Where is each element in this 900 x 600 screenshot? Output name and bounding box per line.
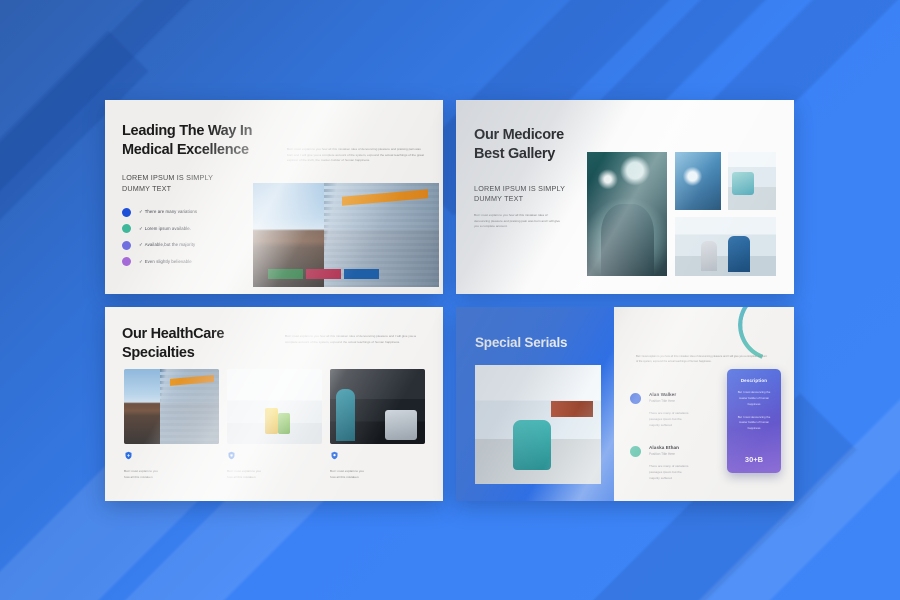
bullet-label: ✓There are many variations (139, 209, 197, 215)
slide1-title-line2: Medical Excellence (122, 142, 249, 158)
photo-signage (268, 269, 380, 278)
person-dot-icon (630, 446, 641, 457)
hospital-building-photo[interactable] (124, 369, 219, 444)
person-role: Position Title Here (649, 399, 688, 403)
slide2-title-line1: Our Medicore (474, 127, 564, 143)
laboratory-photo[interactable] (227, 369, 322, 444)
bullet-label: ✓Even slightly believable (139, 259, 192, 265)
person-entry[interactable]: Alan Walker Position Title Here There ar… (630, 392, 714, 429)
specialty-card[interactable]: But I must explain to youhow all this mi… (124, 369, 219, 481)
slide2-title-line2: Best Gallery (474, 146, 555, 162)
progress-ring-decoration (738, 307, 794, 361)
person-entry[interactable]: Alaska Ethan Position Title Here There a… (630, 445, 714, 482)
bullet-label: ✓Available,but the majority (139, 242, 195, 248)
bullet-dot-icon (122, 241, 131, 250)
slide4-title: Special Serials (475, 335, 567, 350)
shield-icon (330, 451, 339, 460)
specialty-card[interactable]: But I must explain to youhow all this mi… (227, 369, 322, 481)
slide-medicore-gallery[interactable]: Our Medicore Best Gallery LOREM IPSUM IS… (456, 100, 794, 294)
specialty-caption: But I must explain to youhow all this mi… (330, 469, 425, 481)
person-role: Position Title Here (649, 452, 688, 456)
presentation-mockup-background: Leading The Way In Medical Excellence LO… (0, 0, 900, 600)
slide1-subtitle-line2: DUMMY TEXT (122, 184, 171, 193)
person-name: Alan Walker (649, 392, 688, 397)
slide2-subtitle-line1: LOREM IPSUM IS SIMPLY (474, 184, 565, 193)
slide3-title-line1: Our HealthCare (122, 326, 224, 342)
slide1-title: Leading The Way In Medical Excellence (122, 122, 282, 159)
description-card-body-1: But I must denouncing the master builder… (734, 390, 774, 408)
surgery-operating-room-photo[interactable] (587, 152, 667, 276)
slide1-paragraph: But I must explain to you how all this m… (287, 147, 427, 164)
slide1-title-line1: Leading The Way In (122, 123, 252, 139)
slide-leading-the-way[interactable]: Leading The Way In Medical Excellence LO… (105, 100, 443, 294)
slide4-paragraph: But I must explain to you how all this m… (636, 355, 768, 365)
person-name: Alaska Ethan (649, 445, 688, 450)
bullet-dot-icon (122, 257, 131, 266)
slide2-subtitle-line2: DUMMY TEXT (474, 194, 523, 203)
hospital-exterior-photo[interactable] (253, 183, 439, 287)
slide2-subtitle: LOREM IPSUM IS SIMPLY DUMMY TEXT (474, 184, 565, 205)
dental-clinic-photo[interactable] (475, 365, 601, 484)
bullet-dot-icon (122, 208, 131, 217)
slide-healthcare-specialties[interactable]: Our HealthCare Specialties But I must ex… (105, 307, 443, 501)
slide1-subtitle-line1: LOREM IPSUM IS SIMPLY (122, 173, 213, 182)
medical-team-meeting-photo[interactable] (330, 369, 425, 444)
surgical-gloves-photo[interactable] (675, 152, 721, 210)
bullet-dot-icon (122, 224, 131, 233)
bullet-label: ✓Lorem ipsum available. (139, 226, 191, 232)
specialty-card[interactable]: But I must explain to youhow all this mi… (330, 369, 425, 481)
slide3-paragraph: But I must explain to you how all this m… (285, 334, 420, 345)
slide3-title: Our HealthCare Specialties (122, 325, 224, 362)
specialty-caption: But I must explain to youhow all this mi… (227, 469, 322, 481)
description-card-number: 30+B (727, 455, 781, 464)
shield-icon (227, 451, 236, 460)
slide2-paragraph: But I must explain to you how all this m… (474, 213, 560, 230)
shield-icon (124, 451, 133, 460)
clinic-room-photo[interactable] (728, 152, 776, 210)
description-card-body-2: But I must denouncing the master builder… (734, 415, 774, 433)
description-card[interactable]: Description But I must denouncing the ma… (727, 369, 781, 473)
specialty-caption: But I must explain to youhow all this mi… (124, 469, 219, 481)
slide4-people-list: Alan Walker Position Title Here There ar… (630, 392, 714, 497)
person-description: There are many of variations passages ip… (649, 463, 688, 482)
slide3-title-line2: Specialties (122, 345, 194, 361)
slide-special-serials[interactable]: Special Serials But I must explain to yo… (456, 307, 794, 501)
description-card-heading: Description (734, 378, 774, 383)
person-description: There are many of variations passages ip… (649, 410, 688, 429)
person-dot-icon (630, 393, 641, 404)
slide2-title: Our Medicore Best Gallery (474, 126, 564, 163)
patient-consultation-photo[interactable] (675, 217, 776, 276)
